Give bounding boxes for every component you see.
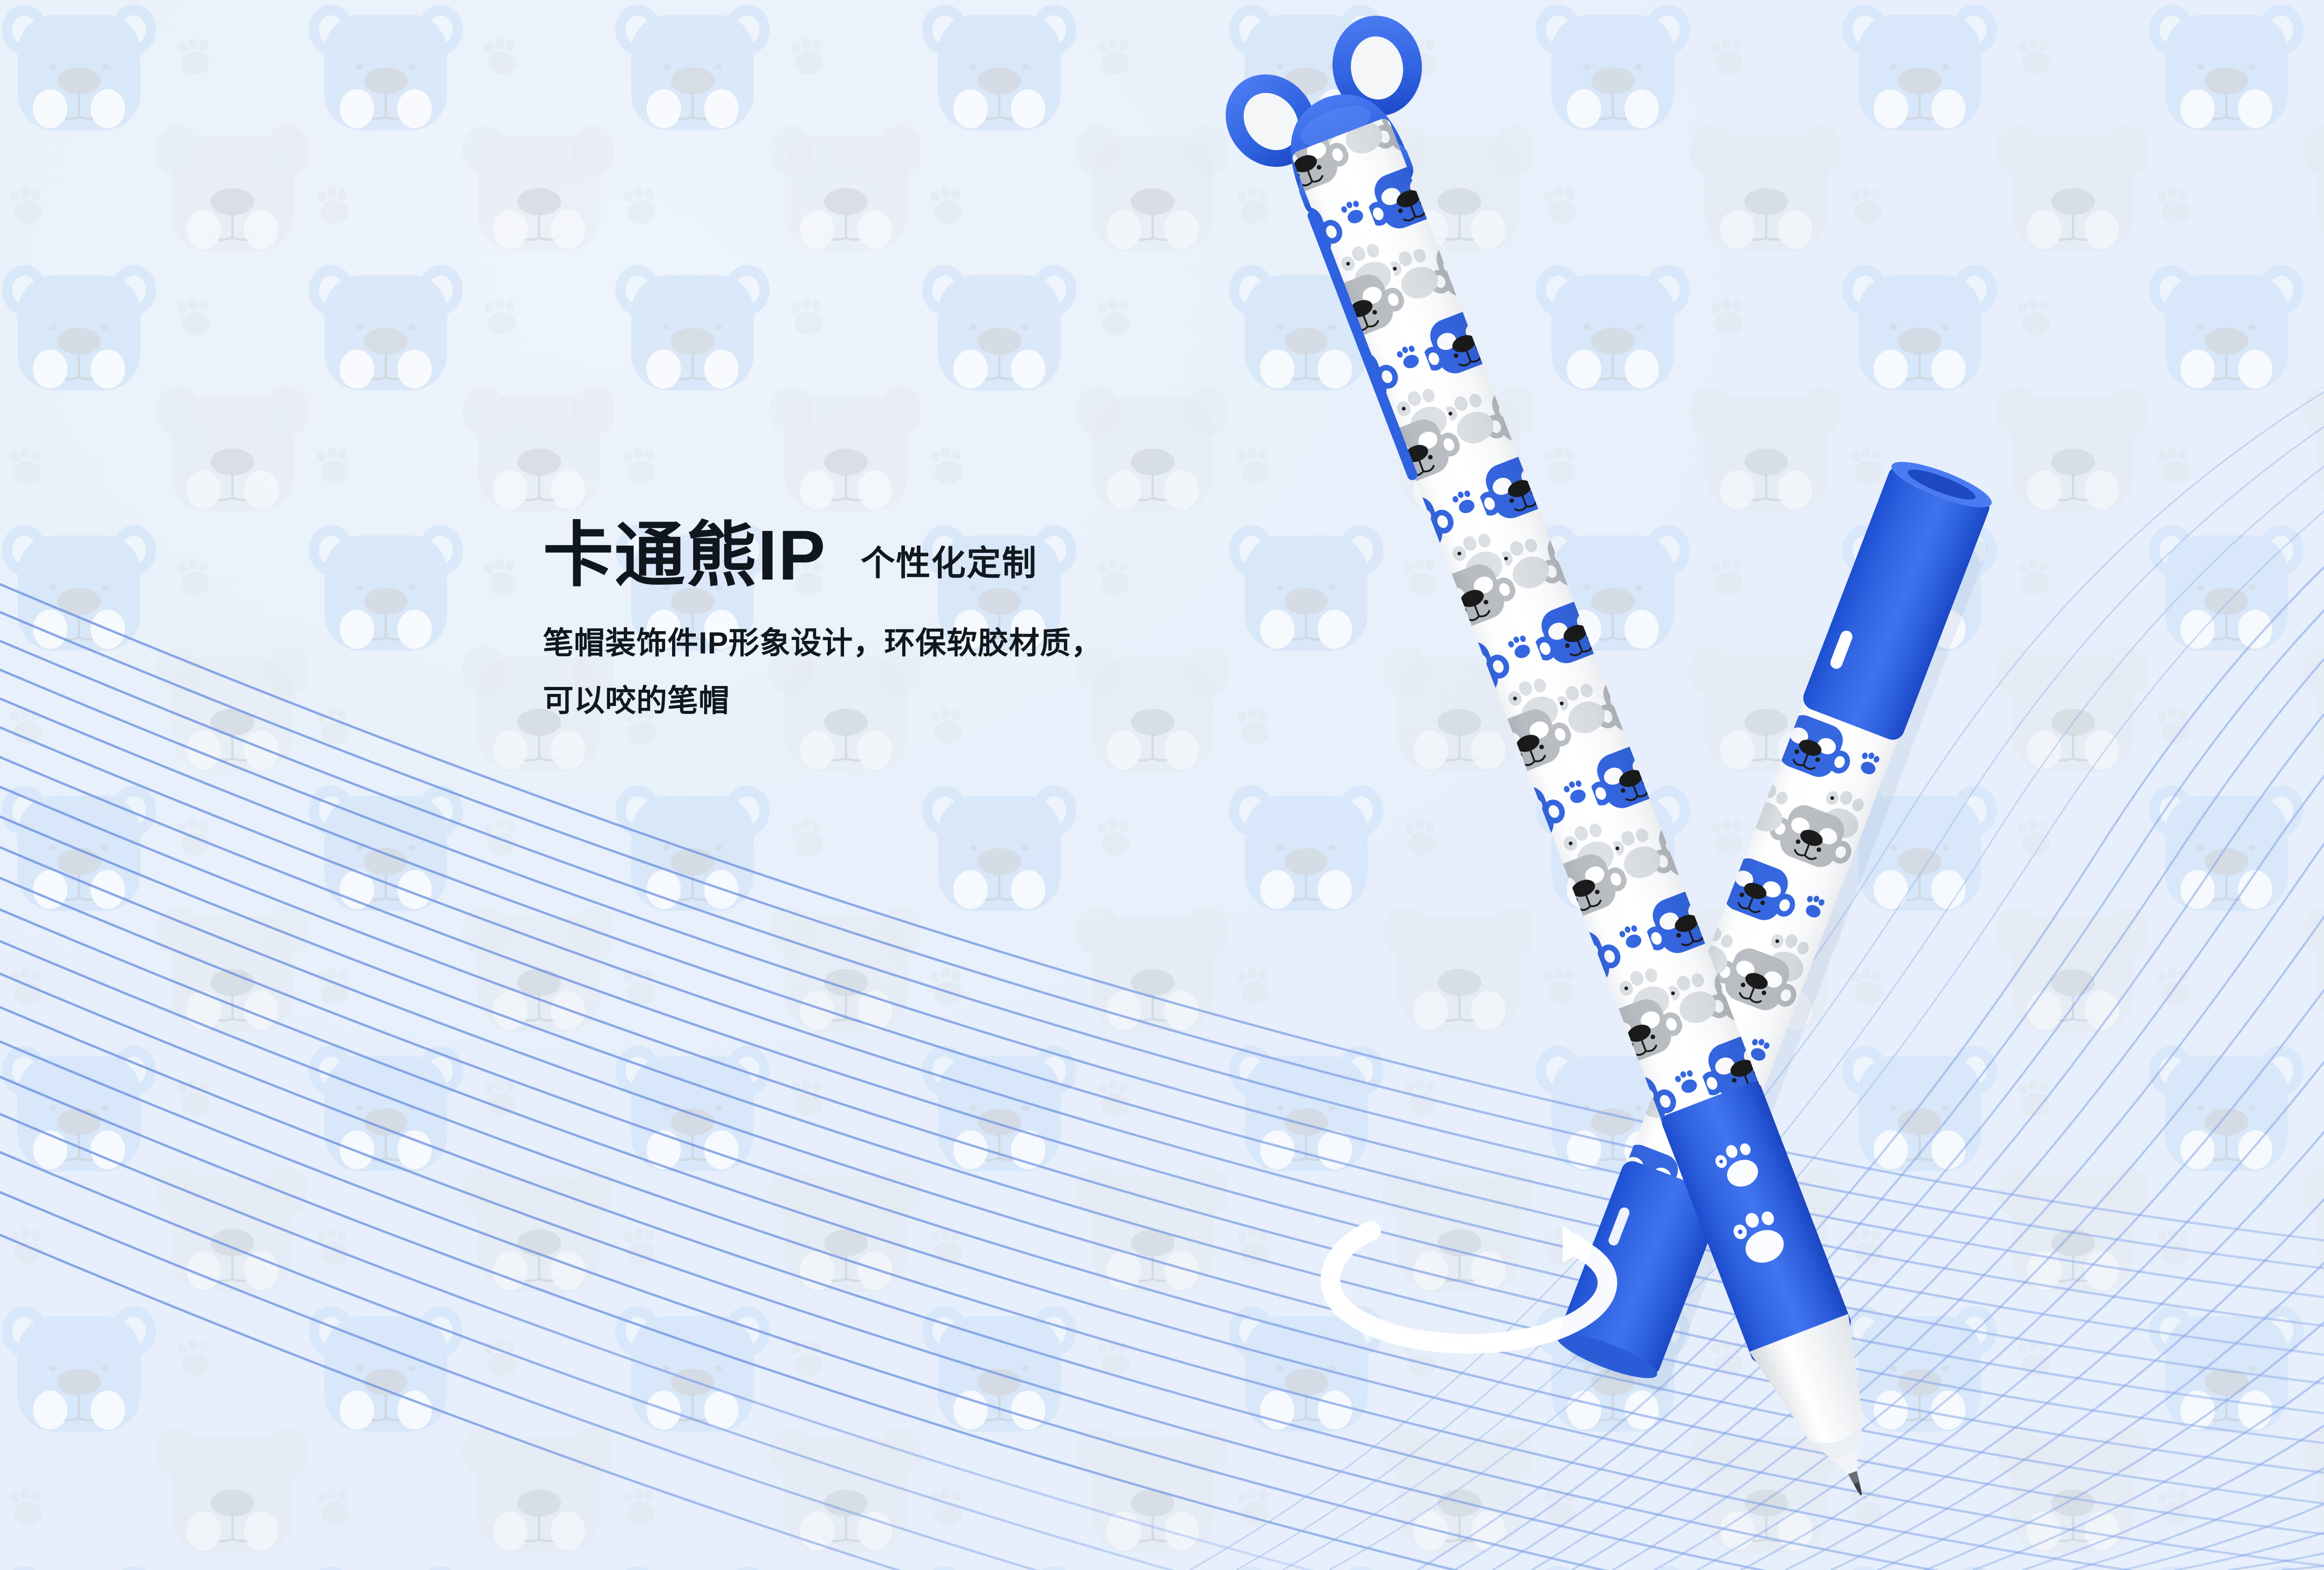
page-title: 卡通熊IP <box>543 520 826 592</box>
left-pen-tip <box>1750 1314 1911 1514</box>
pen-nib-icon <box>1848 1471 1864 1493</box>
copy-block: 卡通熊IP 个性化定制 笔帽装饰件IP形象设计，环保软胶材质， 可以咬的笔帽 <box>543 520 1519 727</box>
description-line-2: 可以咬的笔帽 <box>543 674 1519 727</box>
bear-topper-pen[interactable] <box>1218 0 1915 1529</box>
headline-row: 卡通熊IP 个性化定制 <box>543 520 1519 592</box>
left-pen-grip <box>1659 1080 1853 1365</box>
product-banner: 卡通熊IP 个性化定制 笔帽装饰件IP形象设计，环保软胶材质， 可以咬的笔帽 <box>0 0 2324 1570</box>
subhead-label: 个性化定制 <box>861 535 1037 592</box>
description-line-1: 笔帽装饰件IP形象设计，环保软胶材质， <box>543 617 1519 670</box>
rotation-arrow-icon <box>1330 1226 1607 1344</box>
